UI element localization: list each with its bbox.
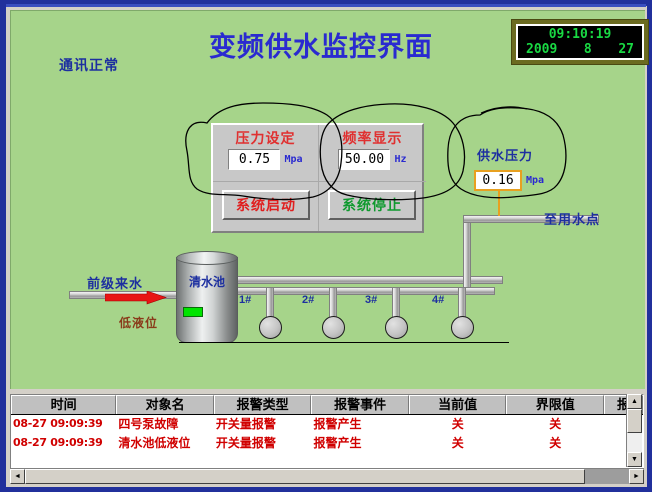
pump-4-label: 4# xyxy=(432,294,444,306)
cell-limit-value: 关 xyxy=(506,415,603,434)
clock-time: 09:10:19 xyxy=(549,28,612,42)
horizontal-scroll-thumb[interactable] xyxy=(25,469,585,484)
pump-4[interactable] xyxy=(451,316,474,339)
start-button-cell: 系统启动 xyxy=(213,182,319,231)
pump-1-label: 1# xyxy=(239,294,251,306)
window-border-right xyxy=(647,0,652,492)
clock-year: 2009 xyxy=(526,42,557,57)
frequency-unit: Hz xyxy=(394,154,406,165)
scroll-right-arrow-icon[interactable]: ► xyxy=(629,469,644,484)
supply-pressure-value: 0.16 xyxy=(474,170,522,191)
supply-pressure-readout: 0.16 Mpa xyxy=(474,170,544,191)
flow-direction-arrow-icon xyxy=(105,291,167,305)
frequency-display-label: 频率显示 xyxy=(319,128,426,148)
pump-4-drop-pipe xyxy=(458,287,466,318)
clean-water-tank xyxy=(176,257,238,343)
cell-time: 08-27 09:09:39 xyxy=(11,415,116,434)
pressure-setpoint-input[interactable]: 0.75 xyxy=(228,149,280,170)
table-row[interactable]: 08-27 09:09:39 四号泵故障 开关量报警 报警产生 关 关 xyxy=(11,415,643,434)
column-header-limit-value[interactable]: 界限值 xyxy=(506,395,604,414)
vertical-scroll-track[interactable] xyxy=(627,433,642,452)
alarm-table-horizontal-scrollbar[interactable]: ◄ ► xyxy=(10,468,644,485)
pressure-setpoint-unit: Mpa xyxy=(284,154,302,165)
system-start-button[interactable]: 系统启动 xyxy=(222,190,310,220)
clock-display: 09:10:19 2009 8 27 xyxy=(511,19,649,65)
cell-alarm-type: 开关量报警 xyxy=(214,415,312,434)
pump-2-drop-pipe xyxy=(329,287,337,318)
clock-month: 8 xyxy=(584,42,592,57)
page-title: 变频供水监控界面 xyxy=(171,25,471,64)
window-border-bottom xyxy=(0,487,652,492)
cell-object: 四号泵故障 xyxy=(116,415,214,434)
tank-top-ellipse xyxy=(176,251,238,265)
cell-alarm-event: 报警产生 xyxy=(311,434,409,453)
pressure-setpoint-cell: 压力设定 0.75 Mpa xyxy=(213,125,319,182)
column-header-object[interactable]: 对象名 xyxy=(116,395,214,414)
cell-alarm-type: 开关量报警 xyxy=(214,434,312,453)
communication-status-label: 通讯正常 xyxy=(59,55,119,75)
inlet-source-label: 前级来水 xyxy=(87,273,143,292)
control-panel: 压力设定 0.75 Mpa 频率显示 50.00 Hz 系统启动 系统停止 xyxy=(211,123,424,233)
column-header-alarm-type[interactable]: 报警类型 xyxy=(214,395,312,414)
cell-limit-value: 关 xyxy=(506,434,603,453)
pump-1-drop-pipe xyxy=(266,287,274,318)
frequency-value: 50.00 xyxy=(338,149,390,170)
clock-date: 2009 8 27 xyxy=(518,42,642,57)
ground-line xyxy=(179,342,509,343)
clock-day: 27 xyxy=(618,42,634,57)
scada-mimic-canvas: 变频供水监控界面 通讯正常 09:10:19 2009 8 27 xyxy=(10,10,645,389)
application-window: 变频供水监控界面 通讯正常 09:10:19 2009 8 27 xyxy=(0,0,652,492)
vertical-scroll-thumb[interactable] xyxy=(627,409,642,433)
scroll-left-arrow-icon[interactable]: ◄ xyxy=(10,469,25,484)
cell-current-value: 关 xyxy=(409,434,506,453)
window-title-accent xyxy=(6,4,646,7)
scroll-up-arrow-icon[interactable]: ▲ xyxy=(627,394,642,409)
pipe-riser-vertical xyxy=(463,216,471,288)
column-header-time[interactable]: 时间 xyxy=(11,395,116,414)
pump-2[interactable] xyxy=(322,316,345,339)
pump-3-label: 3# xyxy=(365,294,377,306)
stop-button-cell: 系统停止 xyxy=(319,182,426,231)
cell-current-value: 关 xyxy=(409,415,506,434)
pump-3-drop-pipe xyxy=(392,287,400,318)
pump-3[interactable] xyxy=(385,316,408,339)
frequency-value-row: 50.00 Hz xyxy=(319,149,426,170)
column-header-alarm-event[interactable]: 报警事件 xyxy=(311,395,409,414)
pump-1[interactable] xyxy=(259,316,282,339)
supply-pressure-unit: Mpa xyxy=(526,175,544,186)
outlet-destination-label: 至用水点 xyxy=(544,209,600,228)
horizontal-scroll-track[interactable] xyxy=(585,469,629,484)
frequency-display-cell: 频率显示 50.00 Hz xyxy=(319,125,426,182)
supply-pressure-label: 供水压力 xyxy=(477,145,533,164)
pressure-sensor-lead xyxy=(498,187,500,216)
low-level-indicator xyxy=(183,307,203,317)
tank-name-label: 清水池 xyxy=(177,273,237,290)
pressure-setpoint-value-row: 0.75 Mpa xyxy=(213,149,318,170)
pressure-setpoint-label: 压力设定 xyxy=(213,128,318,148)
cell-time: 08-27 09:09:39 xyxy=(11,434,116,453)
scroll-down-arrow-icon[interactable]: ▼ xyxy=(627,452,642,467)
column-header-current-value[interactable]: 当前值 xyxy=(409,395,507,414)
cell-alarm-event: 报警产生 xyxy=(311,415,409,434)
low-level-label: 低液位 xyxy=(119,314,158,331)
alarm-table-vertical-scrollbar[interactable]: ▲ ▼ xyxy=(626,394,642,467)
cell-object: 清水池低液位 xyxy=(116,434,214,453)
window-border-left xyxy=(0,0,6,492)
alarm-table-header: 时间 对象名 报警类型 报警事件 当前值 界限值 报 xyxy=(11,395,643,415)
system-stop-button[interactable]: 系统停止 xyxy=(328,190,416,220)
pump-2-label: 2# xyxy=(302,294,314,306)
clock-frame: 09:10:19 2009 8 27 xyxy=(516,24,644,60)
table-row[interactable]: 08-27 09:09:39 清水池低液位 开关量报警 报警产生 关 关 xyxy=(11,434,643,453)
